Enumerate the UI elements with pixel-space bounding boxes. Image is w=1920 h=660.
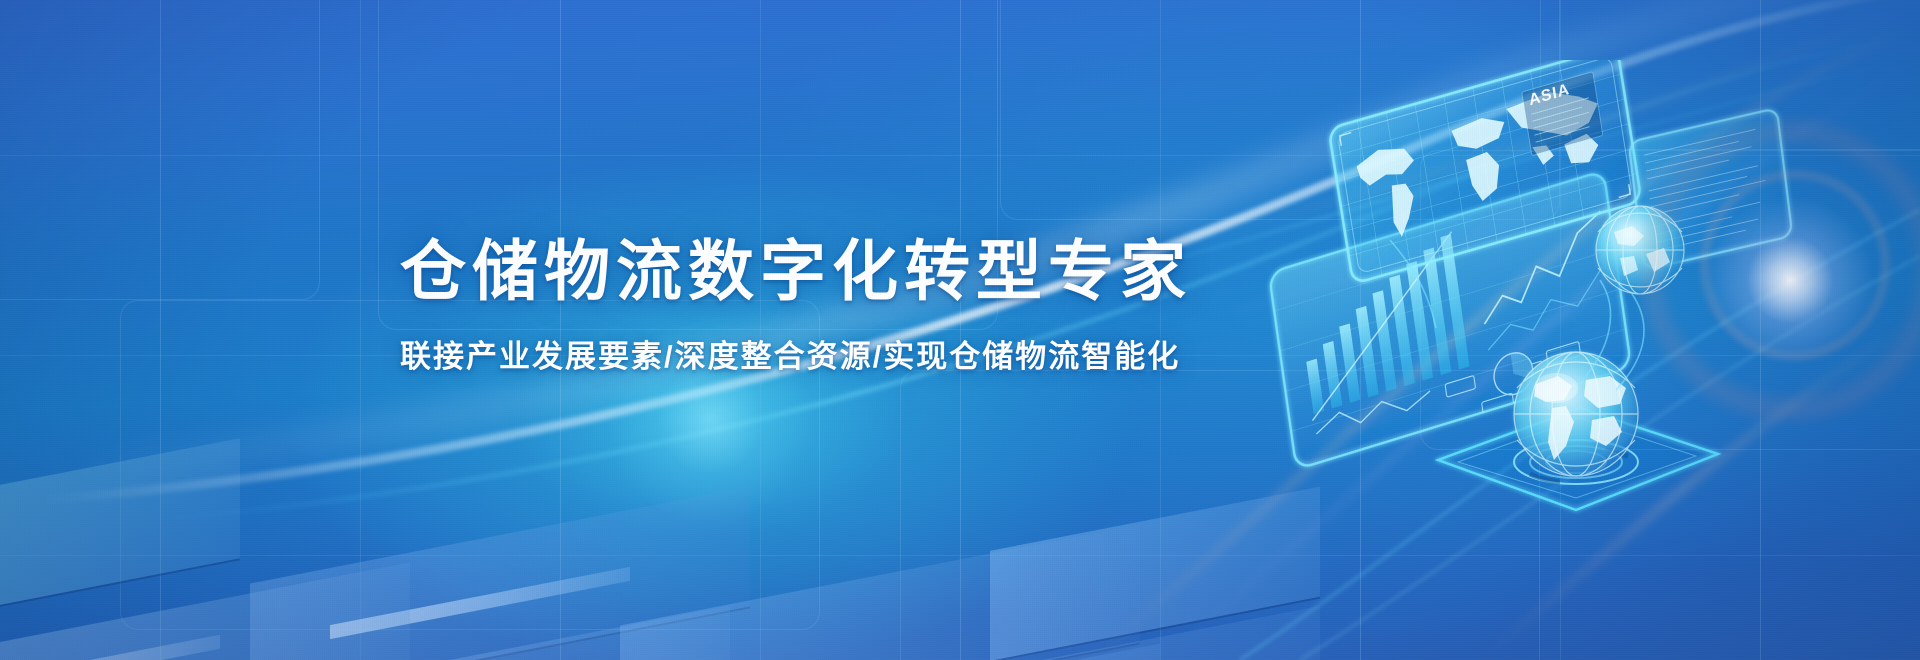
geometric-plate-pattern [0,360,1320,660]
globe-icon [1514,352,1638,476]
decorative-frame [0,0,320,300]
hero-banner: ASIA [0,0,1920,660]
page-title: 仓储物流数字化转型专家 [400,238,1192,304]
tech-hud-illustration: ASIA [1240,60,1920,540]
globe-icon-small [1596,206,1684,294]
page-subtitle: 联接产业发展要素/深度整合资源/实现仓储物流智能化 [400,341,1180,372]
